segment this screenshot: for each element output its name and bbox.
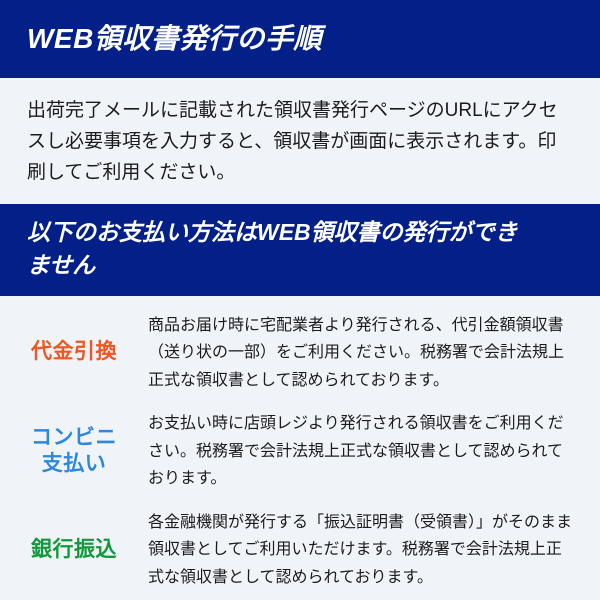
payment-method-label-cell: 代金引換 <box>0 310 148 395</box>
payment-method-description-convenience-store: お支払い時に店頭レジより発行される領収書をご利用ください。税務署で会計法規上正式… <box>148 408 582 493</box>
intro-text: 出荷完了メールに記載された領収書発行ページのURLにアクセスし必要事項を入力する… <box>27 96 573 188</box>
intro-section: 出荷完了メールに記載された領収書発行ページのURLにアクセスし必要事項を入力する… <box>0 78 600 204</box>
payment-method-row: コンビニ 支払い お支払い時に店頭レジより発行される領収書をご利用ください。税務… <box>0 408 600 493</box>
payment-method-row: 代金引換 商品お届け時に宅配業者より発行される、代引金額領収書（送り状の一部）を… <box>0 310 600 395</box>
payment-method-name-convenience-store: コンビニ 支払い <box>31 425 117 479</box>
notice-title: 以下のお支払い方法はWEB領収書の発行ができません <box>27 216 527 281</box>
payment-method-description-bank-transfer: 各金融機関が発行する「振込証明書（受領書）」がそのまま領収書としてご利用いただけ… <box>148 507 582 592</box>
payment-method-name-bank-transfer: 銀行振込 <box>31 537 117 564</box>
payment-method-name-cod: 代金引換 <box>31 339 117 366</box>
payment-methods-list: 代金引換 商品お届け時に宅配業者より発行される、代引金額領収書（送り状の一部）を… <box>0 296 600 592</box>
notice-header-bar: 以下のお支払い方法はWEB領収書の発行ができません <box>0 204 600 295</box>
receipt-info-page: WEB領収書発行の手順 出荷完了メールに記載された領収書発行ページのURLにアク… <box>0 0 600 600</box>
page-title: WEB領収書発行の手順 <box>27 24 322 55</box>
payment-method-label-cell: 銀行振込 <box>0 507 148 592</box>
payment-method-label-cell: コンビニ 支払い <box>0 408 148 493</box>
payment-method-description-cod: 商品お届け時に宅配業者より発行される、代引金額領収書（送り状の一部）をご利用くだ… <box>148 310 582 395</box>
payment-method-row: 銀行振込 各金融機関が発行する「振込証明書（受領書）」がそのまま領収書としてご利… <box>0 507 600 592</box>
page-header-bar: WEB領収書発行の手順 <box>0 0 600 78</box>
